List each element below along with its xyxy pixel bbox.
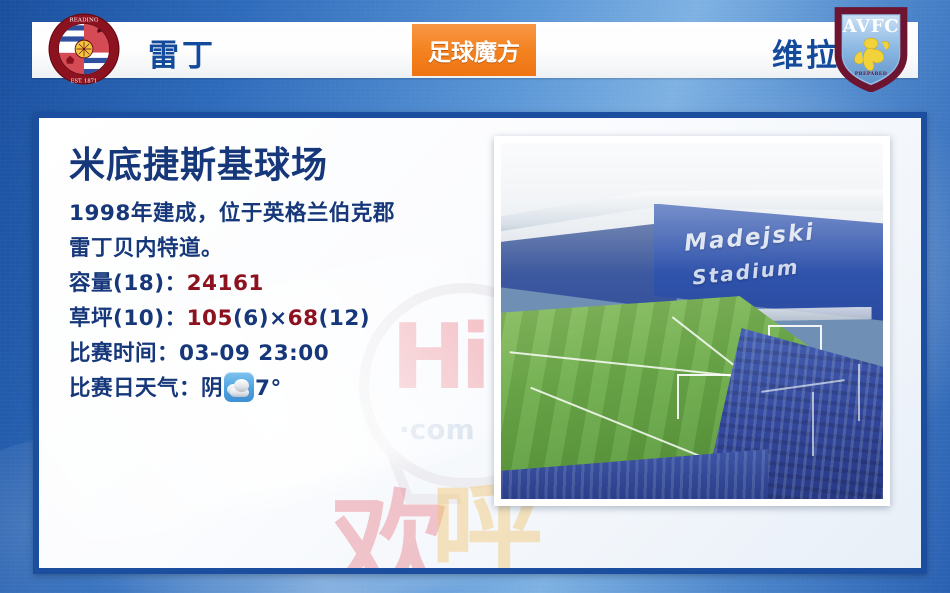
stadium-info-panel: Hi ·com 欢 呼 米底捷斯基球场 1998年建成，位于英格兰伯克郡 雷丁贝… xyxy=(33,112,927,574)
capacity-row: 容量(18)：24161 xyxy=(69,266,489,301)
svg-text:READING: READING xyxy=(69,18,98,24)
watermark-char-huan: 欢 xyxy=(331,488,449,574)
photo-railing-2 xyxy=(812,392,814,456)
photo-railing-1 xyxy=(858,364,860,421)
match-time-label: 比赛时间： xyxy=(69,341,179,366)
svg-text:EST. 1871: EST. 1871 xyxy=(71,78,97,84)
stadium-description-line-2: 雷丁贝内特道。 xyxy=(69,231,489,266)
match-time-row: 比赛时间：03-09 23:00 xyxy=(69,336,489,371)
weather-row: 比赛日天气：阴7° xyxy=(69,371,489,406)
aston-villa-crest: AVFC PREPARED xyxy=(831,6,911,92)
pitch-label: 草坪(10)： xyxy=(69,306,187,331)
pitch-separator: × xyxy=(269,306,288,331)
weather-temperature: 7° xyxy=(255,376,282,401)
stadium-photo-image: Madejski Stadium xyxy=(501,143,883,499)
match-time-value: 03-09 23:00 xyxy=(179,341,329,366)
reading-fc-crest: READING EST. 1871 xyxy=(47,12,121,86)
away-team-name: 维拉 xyxy=(580,30,840,74)
pitch-width: 68 xyxy=(288,306,319,331)
weather-condition: 阴 xyxy=(201,376,223,401)
madejski-stadium-photo: Madejski Stadium xyxy=(494,136,890,506)
stadium-description-line-1: 1998年建成，位于英格兰伯克郡 xyxy=(69,196,489,231)
svg-text:PREPARED: PREPARED xyxy=(855,71,887,77)
home-team-name: 雷丁 xyxy=(148,30,398,74)
pitch-length: 105 xyxy=(187,306,233,331)
watermark-com-text: ·com xyxy=(399,413,475,446)
pitch-width-rank: (12) xyxy=(319,306,371,331)
capacity-value: 24161 xyxy=(187,271,264,296)
svg-text:AVFC: AVFC xyxy=(842,16,900,37)
stadium-info-card: READING EST. 1871 雷丁 足球魔方 维拉 xyxy=(0,0,950,593)
cloudy-weather-icon xyxy=(224,372,254,402)
weather-label: 比赛日天气： xyxy=(69,376,201,401)
pitch-row: 草坪(10)：105(6)×68(12) xyxy=(69,301,489,336)
stadium-info-text: 米底捷斯基球场 1998年建成，位于英格兰伯克郡 雷丁贝内特道。 容量(18)：… xyxy=(69,146,489,406)
pitch-length-rank: (6) xyxy=(233,306,269,331)
stadium-title: 米底捷斯基球场 xyxy=(69,146,489,186)
site-logo[interactable]: 足球魔方 xyxy=(412,24,536,76)
match-header: READING EST. 1871 雷丁 足球魔方 维拉 xyxy=(0,0,950,96)
capacity-label: 容量(18)： xyxy=(69,271,187,296)
site-logo-text: 足球魔方 xyxy=(428,33,520,67)
